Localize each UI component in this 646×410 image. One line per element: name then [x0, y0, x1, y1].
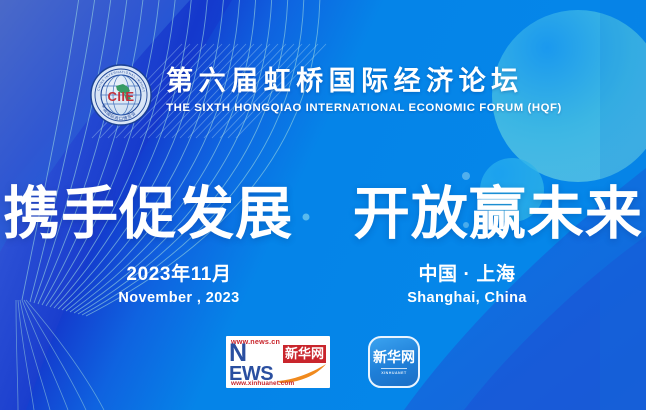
xinhua-app-cn: 新华网: [373, 349, 415, 365]
xinhua-news-wordmark: N EWS: [229, 344, 273, 383]
slogan-part-2: 开放赢未来: [353, 182, 643, 246]
slogan-part-1: 携手促发展: [3, 182, 293, 246]
meta-row: 2023年11月 November , 2023 中国 · 上海 Shangha…: [0, 263, 646, 308]
date-cn: 2023年11月: [54, 263, 304, 287]
location-block: 中国 · 上海 Shanghai, China: [342, 263, 592, 308]
ciie-emblem-icon: CIIE CHINA INTERNATIONAL IMPORT EXPO 中国国…: [90, 64, 152, 126]
date-en: November , 2023: [54, 288, 304, 308]
footer-logos: www.news.cn N EWS 新华网 www.xinhuanet.com …: [0, 336, 646, 388]
forum-title-cn: 第六届虹桥国际经济论坛: [166, 64, 562, 98]
slogan: 携手促发展 开放赢未来: [0, 182, 646, 246]
xinhua-cn-badge: 新华网: [283, 345, 326, 363]
location-en: Shanghai, China: [342, 288, 592, 308]
xinhua-app-en: XINHUANET: [381, 371, 406, 375]
xinhua-app-divider: [381, 368, 407, 369]
title-block: 第六届虹桥国际经济论坛 THE SIXTH HONGQIAO INTERNATI…: [166, 62, 562, 115]
forum-title-en: THE SIXTH HONGQIAO INTERNATIONAL ECONOMI…: [166, 101, 562, 115]
poster-header: CIIE CHINA INTERNATIONAL IMPORT EXPO 中国国…: [0, 62, 646, 132]
xinhua-news-wordmark-logo: www.news.cn N EWS 新华网 www.xinhuanet.com: [226, 336, 330, 388]
date-block: 2023年11月 November , 2023: [54, 263, 304, 308]
decor-bubble-2: [462, 172, 470, 180]
forum-poster: CIIE CHINA INTERNATIONAL IMPORT EXPO 中国国…: [0, 0, 646, 410]
location-cn: 中国 · 上海: [342, 263, 592, 287]
xinhua-url-bottom: www.xinhuanet.com: [231, 380, 294, 387]
xinhua-app-icon-logo: 新华网 XINHUANET: [368, 336, 420, 388]
